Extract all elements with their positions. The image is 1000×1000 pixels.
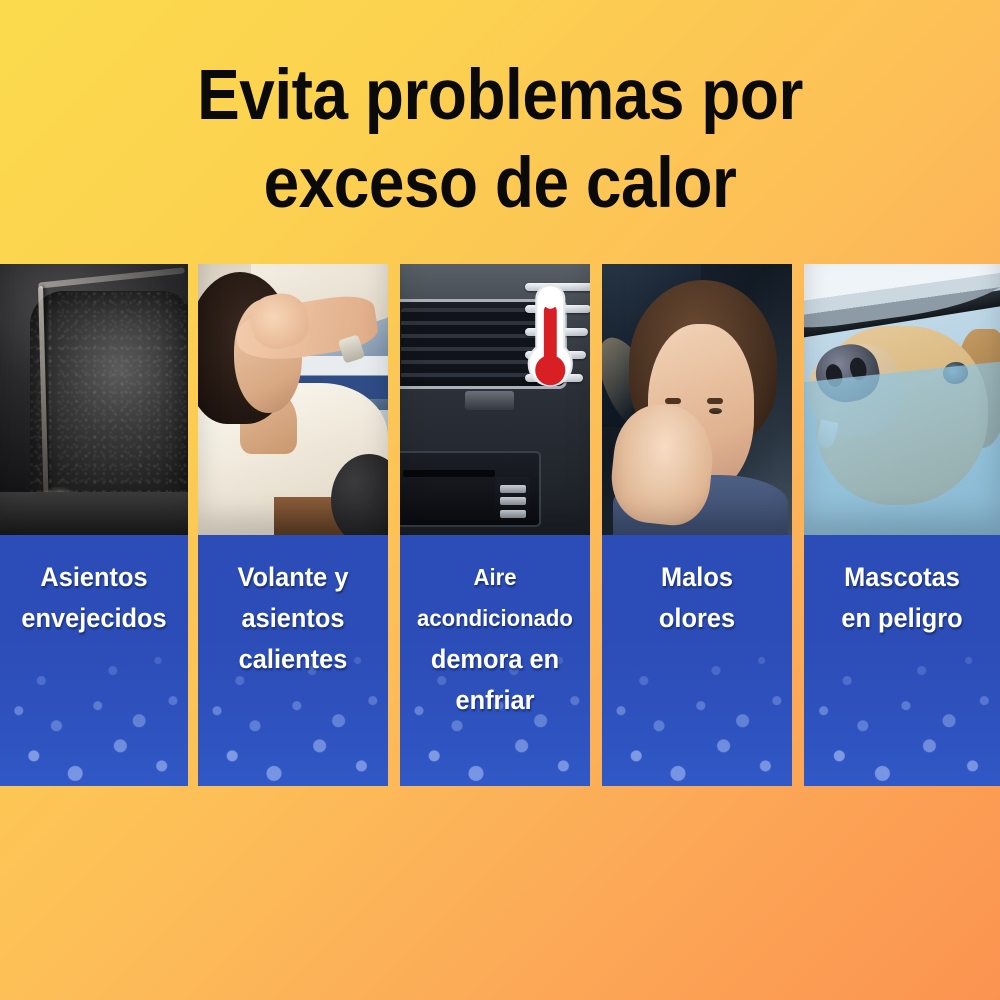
caption-line: asientos — [204, 598, 383, 639]
caption-block: Aire acondicionado demora en enfriar — [400, 535, 590, 786]
thermometer-icon — [518, 275, 583, 405]
caption-line: Volante y — [204, 557, 383, 598]
photo-aged-leather-seat — [0, 264, 188, 535]
caption-block: Asientos envejecidos — [0, 535, 188, 786]
heat-problems-infographic: Evita problemas por exceso de calor Asie… — [0, 0, 1000, 1000]
caption-line: olores — [608, 598, 787, 639]
problem-panel-pets-in-danger[interactable]: Mascotas en peligro — [804, 264, 1000, 786]
title-line-2: exceso de calor — [50, 140, 950, 228]
car-window-glass — [804, 361, 1000, 535]
problem-panel-aged-seats[interactable]: Asientos envejecidos — [0, 264, 188, 786]
caption-line: Malos — [608, 557, 787, 598]
caption-line: en peligro — [810, 598, 994, 639]
problem-panel-hot-wheel-seats[interactable]: Volante y asientos calientes — [198, 264, 388, 786]
title-line-1: Evita problemas por — [50, 52, 950, 140]
problem-panel-ac-slow-cooling[interactable]: Aire acondicionado demora en enfriar — [400, 264, 590, 786]
page-title: Evita problemas por exceso de calor — [0, 52, 1000, 228]
caption-line: envejecidos — [6, 598, 183, 639]
caption-line: Mascotas — [810, 557, 994, 598]
caption-line: calientes — [204, 639, 383, 680]
caption-line: enfriar — [406, 680, 585, 721]
caption-block: Mascotas en peligro — [804, 535, 1000, 786]
photo-hot-steering-wheel — [198, 264, 388, 535]
caption-line: Aire acondicionado — [406, 557, 585, 639]
caption-block: Volante y asientos calientes — [198, 535, 388, 786]
photo-ac-vent-thermometer — [400, 264, 590, 535]
photo-bad-odor — [602, 264, 792, 535]
caption-line: demora en — [406, 639, 585, 680]
car-stereo-console — [400, 451, 541, 527]
seat-headrest-icon — [30, 291, 188, 513]
problem-panel-bad-odors[interactable]: Malos olores — [602, 264, 792, 786]
problem-panel-strip: Asientos envejecidos — [0, 264, 1000, 786]
caption-block: Malos olores — [602, 535, 792, 786]
caption-line: Asientos — [6, 557, 183, 598]
photo-pet-in-car — [804, 264, 1000, 535]
